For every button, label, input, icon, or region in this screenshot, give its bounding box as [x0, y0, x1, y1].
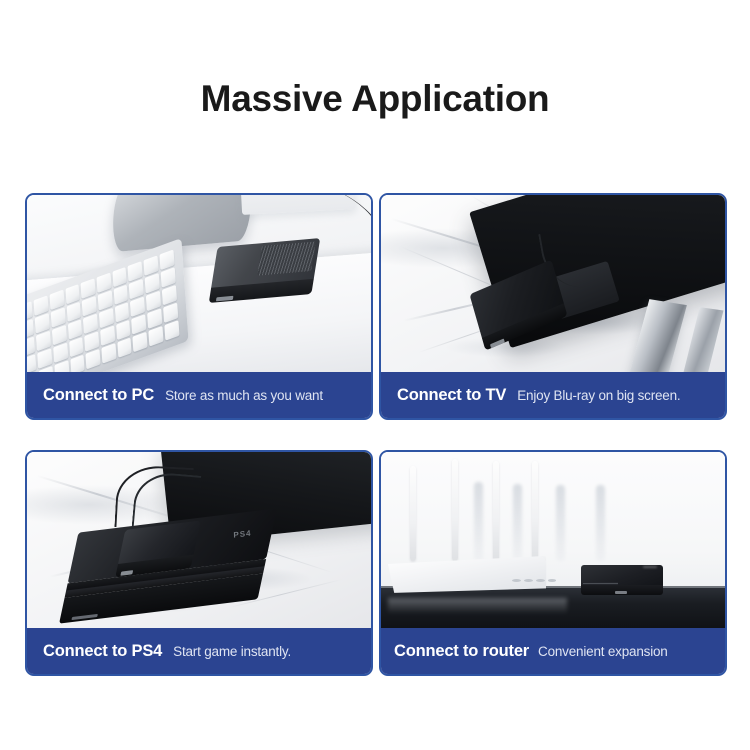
hard-drive-enclosure [581, 565, 664, 595]
antenna-shadow [596, 485, 605, 561]
page-title: Massive Application [0, 78, 750, 120]
monitor-stand-base [111, 195, 252, 253]
router-antenna [452, 459, 458, 561]
antenna-shadow [513, 484, 522, 561]
table-reflection [388, 598, 567, 614]
ps4-logo: PS4 [234, 529, 252, 540]
enclosure-front [581, 585, 664, 595]
caption-title: Connect to router [394, 642, 529, 661]
caption-connect-to-pc: Connect to PC Store as much as you want [27, 372, 371, 418]
card-photo-router [381, 452, 725, 628]
card-connect-to-tv[interactable]: Connect to TV Enjoy Blu-ray on big scree… [379, 193, 727, 420]
enclosure-logo [121, 570, 134, 576]
caption-subtitle: Start game instantly. [173, 644, 291, 659]
router-antenna [532, 461, 538, 561]
caption-title: Connect to PS4 [43, 642, 162, 661]
caption-subtitle: Store as much as you want [165, 388, 323, 403]
enclosure-highlight [643, 566, 656, 569]
caption-title: Connect to PC [43, 386, 154, 405]
card-connect-to-ps4[interactable]: PS4 Connect to PS4 Start game instantly. [25, 450, 373, 676]
caption-connect-to-router: Connect to router Convenient expansion [381, 628, 725, 674]
caption-subtitle: Convenient expansion [538, 644, 668, 659]
card-photo-ps4: PS4 [27, 452, 371, 628]
card-photo-tv [381, 195, 725, 372]
caption-connect-to-tv: Connect to TV Enjoy Blu-ray on big scree… [381, 372, 725, 418]
card-photo-pc [27, 195, 371, 372]
caption-title: Connect to TV [397, 386, 506, 405]
router-antenna [410, 466, 416, 561]
hard-drive-enclosure [209, 238, 321, 303]
application-card-grid: Connect to PC Store as much as you want … [25, 193, 727, 676]
antenna-shadow [556, 485, 565, 561]
router-antenna [493, 461, 499, 561]
caption-connect-to-ps4: Connect to PS4 Start game instantly. [27, 628, 371, 674]
caption-subtitle: Enjoy Blu-ray on big screen. [517, 388, 680, 403]
enclosure-logo [216, 296, 233, 302]
card-connect-to-router[interactable]: Connect to router Convenient expansion [379, 450, 727, 676]
antenna-shadow [474, 482, 483, 561]
enclosure-vent-ribs [257, 242, 315, 276]
router-status-leds [512, 579, 557, 582]
card-connect-to-pc[interactable]: Connect to PC Store as much as you want [25, 193, 373, 420]
enclosure-logo [615, 591, 627, 594]
